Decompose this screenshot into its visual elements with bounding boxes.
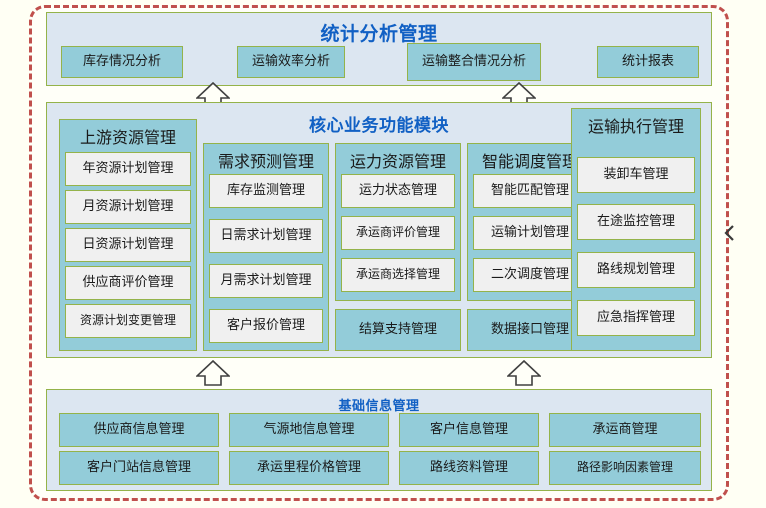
node-label: 日资源计划管理	[82, 238, 173, 252]
stats-item-transport-consolidation-analysis[interactable]: 运输整合情况分析	[407, 43, 541, 81]
node-label: 装卸车管理	[603, 168, 668, 182]
core-item-transport-plan[interactable]: 运输计划管理	[473, 216, 587, 250]
node-label: 日需求计划管理	[220, 229, 311, 243]
base-item-carrier-management[interactable]: 承运商管理	[549, 413, 701, 447]
core-item-daily-demand-plan[interactable]: 日需求计划管理	[209, 219, 323, 253]
node-label: 运输整合情况分析	[422, 55, 526, 69]
core-item-daily-resource-plan[interactable]: 日资源计划管理	[65, 228, 191, 262]
core-item-emergency-command[interactable]: 应急指挥管理	[577, 300, 695, 336]
core-group-capacity-resource: 运力资源管理 运力状态管理 承运商评价管理 承运商选择管理	[335, 143, 461, 301]
core-item-capacity-status[interactable]: 运力状态管理	[341, 174, 455, 208]
core-group-demand-forecast: 需求预测管理 库存监测管理 日需求计划管理 月需求计划管理 客户报价管理	[203, 143, 329, 351]
section-base-title: 基础信息管理	[47, 395, 711, 414]
node-label: 供应商信息管理	[93, 423, 184, 437]
core-item-secondary-dispatch[interactable]: 二次调度管理	[473, 258, 587, 292]
core-group-demand-forecast-title: 需求预测管理	[204, 148, 328, 172]
node-label: 结算支持管理	[359, 323, 437, 337]
stats-item-statistical-report[interactable]: 统计报表	[597, 46, 699, 78]
node-label: 月资源计划管理	[82, 200, 173, 214]
core-item-resource-plan-change[interactable]: 资源计划变更管理	[65, 304, 191, 338]
core-item-route-planning[interactable]: 路线规划管理	[577, 252, 695, 288]
base-item-supplier-info[interactable]: 供应商信息管理	[59, 413, 219, 447]
core-item-annual-resource-plan[interactable]: 年资源计划管理	[65, 152, 191, 186]
core-item-monthly-demand-plan[interactable]: 月需求计划管理	[209, 264, 323, 298]
node-label: 在途监控管理	[597, 215, 675, 229]
base-item-carrier-mileage-price[interactable]: 承运里程价格管理	[229, 451, 389, 485]
core-item-supplier-evaluation[interactable]: 供应商评价管理	[65, 266, 191, 300]
node-label: 二次调度管理	[491, 268, 569, 282]
base-item-route-data[interactable]: 路线资料管理	[399, 451, 539, 485]
node-label: 供应商评价管理	[82, 276, 173, 290]
core-item-intelligent-matching[interactable]: 智能匹配管理	[473, 174, 587, 208]
node-label: 运输效率分析	[252, 55, 330, 69]
core-item-carrier-selection[interactable]: 承运商选择管理	[341, 258, 455, 292]
node-label: 运输计划管理	[491, 226, 569, 240]
node-label: 统计报表	[622, 55, 674, 69]
node-label: 客户报价管理	[227, 319, 305, 333]
node-label: 智能匹配管理	[491, 184, 569, 198]
node-label: 承运商选择管理	[356, 268, 440, 281]
node-label: 月需求计划管理	[220, 274, 311, 288]
node-label: 资源计划变更管理	[80, 314, 176, 327]
node-label: 库存监测管理	[227, 184, 305, 198]
section-statistics-title: 统计分析管理	[47, 19, 711, 46]
node-label: 库存情况分析	[83, 55, 161, 69]
arrow-base-to-core-right	[507, 360, 541, 386]
core-item-settlement-support[interactable]: 结算支持管理	[335, 309, 461, 351]
cursor-arrow-icon	[724, 224, 736, 242]
core-group-upstream-resource-title: 上游资源管理	[60, 124, 196, 148]
node-label: 应急指挥管理	[597, 311, 675, 325]
core-item-monthly-resource-plan[interactable]: 月资源计划管理	[65, 190, 191, 224]
diagram-canvas: 统计分析管理 库存情况分析 运输效率分析 运输整合情况分析 统计报表 核心业务功…	[0, 0, 766, 508]
section-statistics: 统计分析管理 库存情况分析 运输效率分析 运输整合情况分析 统计报表	[46, 12, 712, 86]
core-item-in-transit-monitoring[interactable]: 在途监控管理	[577, 204, 695, 240]
node-label: 运力状态管理	[359, 184, 437, 198]
node-label: 年资源计划管理	[82, 162, 173, 176]
section-base-information: 基础信息管理 供应商信息管理 气源地信息管理 客户信息管理 承运商管理 客户门站…	[46, 389, 712, 491]
core-group-transport-execution-title: 运输执行管理	[572, 113, 700, 137]
core-item-carrier-evaluation[interactable]: 承运商评价管理	[341, 216, 455, 250]
node-label: 承运里程价格管理	[257, 461, 361, 475]
node-label: 承运商评价管理	[356, 226, 440, 239]
node-label: 承运商管理	[592, 423, 657, 437]
arrow-base-to-core-left	[196, 360, 230, 386]
node-label: 客户信息管理	[430, 423, 508, 437]
stats-item-transport-efficiency-analysis[interactable]: 运输效率分析	[237, 46, 345, 78]
core-group-capacity-resource-title: 运力资源管理	[336, 148, 460, 172]
base-item-customer-info[interactable]: 客户信息管理	[399, 413, 539, 447]
core-item-inventory-monitoring[interactable]: 库存监测管理	[209, 174, 323, 208]
base-item-customer-station-info[interactable]: 客户门站信息管理	[59, 451, 219, 485]
node-label: 路线资料管理	[430, 461, 508, 475]
base-item-gas-source-info[interactable]: 气源地信息管理	[229, 413, 389, 447]
node-label: 数据接口管理	[491, 323, 569, 337]
stats-item-inventory-analysis[interactable]: 库存情况分析	[61, 46, 183, 78]
base-item-route-influence-factor[interactable]: 路径影响因素管理	[549, 451, 701, 485]
node-label: 路径影响因素管理	[577, 461, 673, 474]
core-item-loading-unloading[interactable]: 装卸车管理	[577, 157, 695, 193]
core-group-transport-execution: 运输执行管理 装卸车管理 在途监控管理 路线规划管理 应急指挥管理	[571, 108, 701, 351]
node-label: 路线规划管理	[597, 263, 675, 277]
section-core-business: 核心业务功能模块 上游资源管理 年资源计划管理 月资源计划管理 日资源计划管理 …	[46, 102, 712, 358]
node-label: 气源地信息管理	[263, 423, 354, 437]
node-label: 客户门站信息管理	[87, 461, 191, 475]
core-group-upstream-resource: 上游资源管理 年资源计划管理 月资源计划管理 日资源计划管理 供应商评价管理 资…	[59, 119, 197, 351]
core-item-customer-quotation[interactable]: 客户报价管理	[209, 309, 323, 343]
